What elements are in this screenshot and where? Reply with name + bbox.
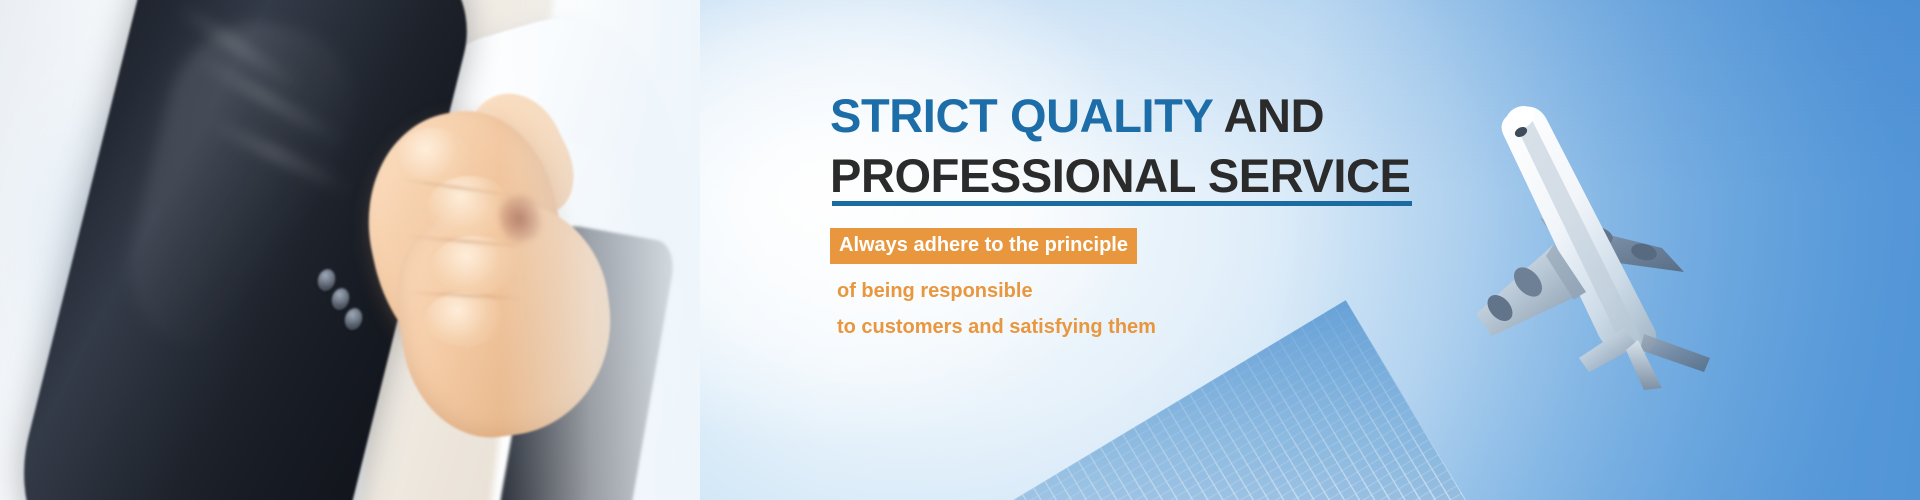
photo-right-fade bbox=[500, 0, 700, 500]
tagline-line-2-wrap: of being responsible bbox=[830, 269, 1156, 305]
tagline-line-3: to customers and satisfying them bbox=[830, 314, 1156, 341]
banner-content: STRICT QUALITY AND PROFESSIONAL SERVICE … bbox=[830, 0, 1510, 500]
status-badge: Always adhere to the principle bbox=[830, 228, 1137, 264]
headline-line-1: STRICT QUALITY AND bbox=[830, 86, 1411, 146]
headline-accent: STRICT QUALITY bbox=[830, 89, 1213, 142]
tagline-line-3-wrap: to customers and satisfying them bbox=[830, 305, 1156, 341]
divider bbox=[832, 201, 1412, 206]
page-title: STRICT QUALITY AND PROFESSIONAL SERVICE bbox=[830, 86, 1411, 206]
promo-banner: STRICT QUALITY AND PROFESSIONAL SERVICE … bbox=[0, 0, 1920, 500]
knuckle bbox=[425, 292, 505, 346]
tagline-block: Always adhere to the principle of being … bbox=[830, 228, 1156, 341]
headline-rest: AND bbox=[1213, 89, 1325, 142]
handshake-photo bbox=[0, 0, 700, 500]
tagline-line-1-wrap: Always adhere to the principle bbox=[830, 228, 1156, 269]
tagline-line-2: of being responsible bbox=[830, 278, 1033, 305]
headline-line-2: PROFESSIONAL SERVICE bbox=[830, 146, 1411, 206]
